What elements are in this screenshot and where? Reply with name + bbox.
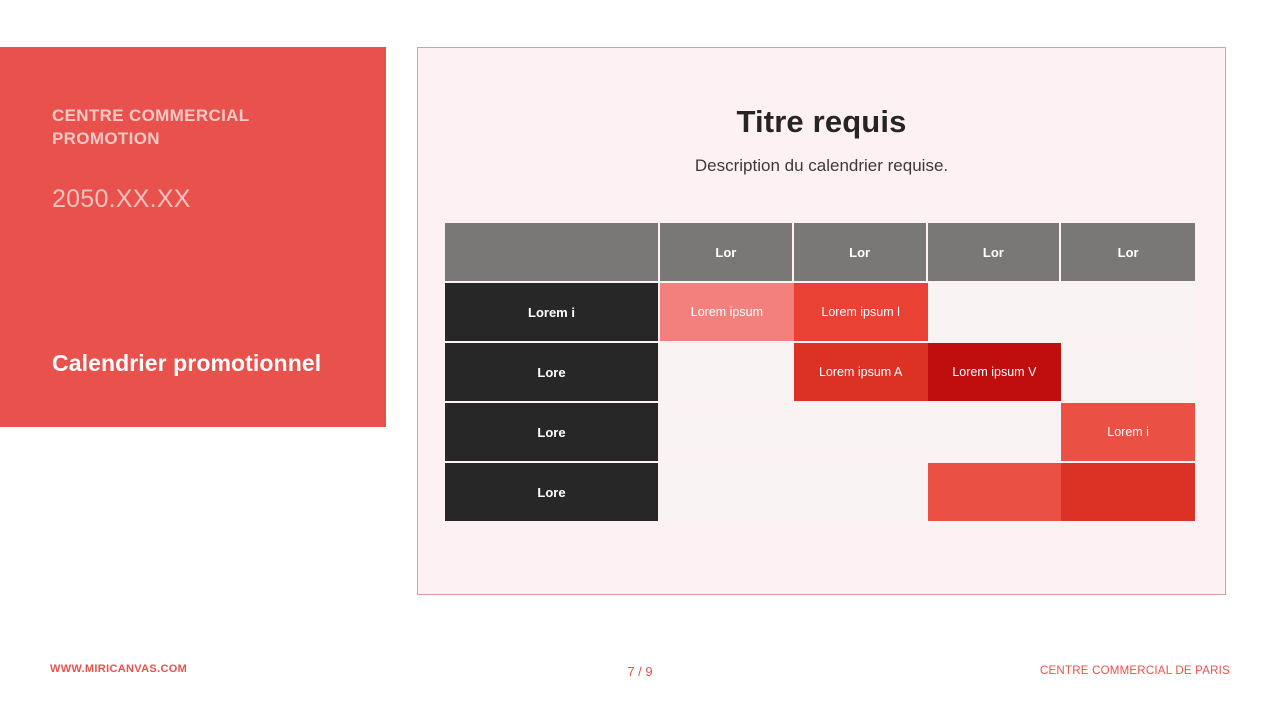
row-label-cell: Lorem i <box>445 283 660 343</box>
footer-brand: CENTRE COMMERCIAL DE PARIS <box>1040 665 1230 677</box>
promotion-calendar-table: Lor Lor Lor Lor Lorem iLorem ipsumLorem … <box>445 223 1195 523</box>
calendar-empty-cell <box>660 463 794 523</box>
page-subtitle: Description du calendrier requise. <box>418 156 1225 176</box>
calendar-empty-cell <box>660 403 794 463</box>
table-header-row: Lor Lor Lor Lor <box>445 223 1195 283</box>
calendar-bar-cell: Lorem ipsum A <box>794 343 928 403</box>
table-row: LoreLorem i <box>445 403 1195 463</box>
table-corner-cell <box>445 223 660 283</box>
panel-title: Calendrier promotionnel <box>52 350 321 377</box>
calendar-empty-cell <box>794 463 928 523</box>
calendar-empty-cell <box>660 343 794 403</box>
table-header: Lor Lor Lor Lor <box>445 223 1195 283</box>
calendar-bar-cell <box>1061 463 1195 523</box>
table-body: Lorem iLorem ipsumLorem ipsum lLoreLorem… <box>445 283 1195 523</box>
panel-date: 2050.XX.XX <box>52 185 386 214</box>
page-title: Titre requis <box>418 48 1225 140</box>
panel-eyebrow: CENTRE COMMERCIAL PROMOTION <box>52 105 342 151</box>
calendar-empty-cell <box>928 283 1062 343</box>
row-label-cell: Lore <box>445 403 660 463</box>
calendar-bar-cell <box>928 463 1062 523</box>
calendar-bar-cell: Lorem ipsum V <box>928 343 1062 403</box>
title-panel: CENTRE COMMERCIAL PROMOTION 2050.XX.XX C… <box>0 47 386 427</box>
row-label-cell: Lore <box>445 463 660 523</box>
calendar-empty-cell <box>928 403 1062 463</box>
table-row: Lore <box>445 463 1195 523</box>
calendar-card: Titre requis Description du calendrier r… <box>417 47 1226 595</box>
table-row: LoreLorem ipsum ALorem ipsum V <box>445 343 1195 403</box>
column-header-4: Lor <box>1061 223 1195 283</box>
row-label-cell: Lore <box>445 343 660 403</box>
calendar-empty-cell <box>794 403 928 463</box>
calendar-empty-cell <box>1061 283 1195 343</box>
table-row: Lorem iLorem ipsumLorem ipsum l <box>445 283 1195 343</box>
calendar-bar-cell: Lorem ipsum <box>660 283 794 343</box>
column-header-3: Lor <box>928 223 1062 283</box>
calendar-bar-cell: Lorem ipsum l <box>794 283 928 343</box>
calendar-bar-cell: Lorem i <box>1061 403 1195 463</box>
column-header-2: Lor <box>794 223 928 283</box>
column-header-1: Lor <box>660 223 794 283</box>
calendar-empty-cell <box>1061 343 1195 403</box>
